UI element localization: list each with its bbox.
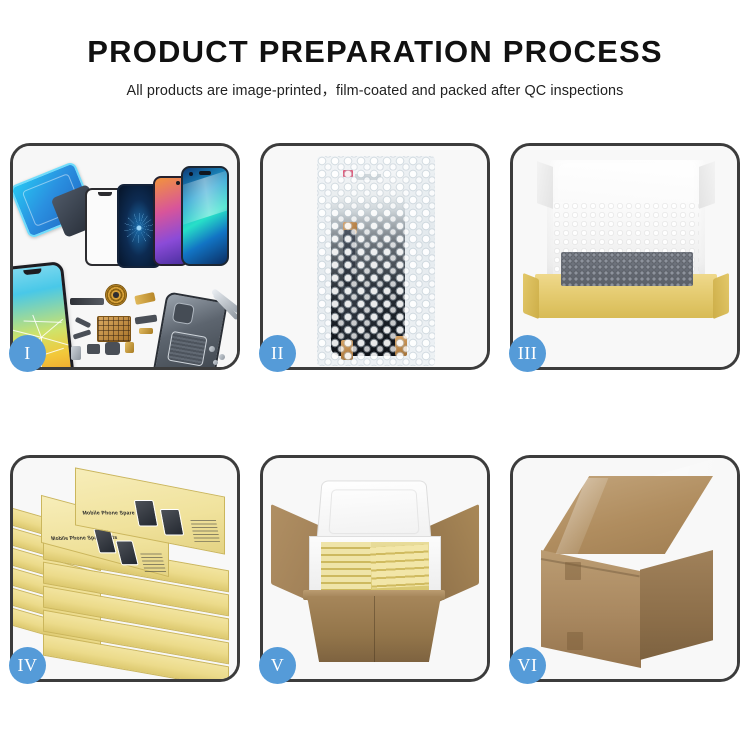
bubble-wrapped-product [561,252,693,286]
step-3-image [513,146,737,367]
copper-coil-part [105,284,127,306]
process-step-5[interactable]: V [260,455,490,682]
teal-gradient-phone [181,166,229,266]
process-step-4[interactable]: Mobile Phone Spare Parts Mobile Phone Sp… [10,455,240,682]
header: PRODUCT PREPARATION PROCESS All products… [0,0,750,100]
step-badge-6: VI [509,647,546,684]
process-step-3[interactable]: III [510,143,740,370]
contact-grid-part [97,316,131,342]
screw-part [219,354,225,360]
process-step-6[interactable]: VI [510,455,740,682]
kraft-tray [535,274,717,318]
small-part [71,346,81,360]
product-preparation-infographic: PRODUCT PREPARATION PROCESS All products… [0,0,750,750]
step-4-image: Mobile Phone Spare Parts Mobile Phone Sp… [13,458,237,679]
flex-cable-part [70,298,104,305]
carton-patch [565,562,581,580]
screw-part [213,360,218,365]
step-badge-1: I [9,335,46,372]
page-subtitle: All products are image-printed，film-coat… [0,79,750,100]
small-part [87,344,100,354]
small-part [139,328,153,334]
process-step-2[interactable]: II [260,143,490,370]
small-part [125,342,134,353]
carton-body [307,596,441,662]
bubble-wrap-bag [317,156,435,366]
page-title: PRODUCT PREPARATION PROCESS [0,34,750,70]
carton-side-face [640,550,713,660]
step-badge-3: III [509,335,546,372]
packed-retail-boxes [321,542,429,590]
step-2-image [263,146,487,367]
screw-part [209,346,215,352]
step-badge-2: II [259,335,296,372]
screen-burst-graphic [124,213,154,243]
step-6-image [513,458,737,679]
carton-patch [567,632,583,650]
step-badge-5: V [259,647,296,684]
step-badge-4: IV [9,647,46,684]
process-step-1[interactable]: I [10,143,240,370]
step-5-image [263,458,487,679]
process-step-grid: I II [10,143,740,680]
bubble-texture [317,156,435,366]
small-part [105,342,120,355]
step-1-image [13,146,237,367]
